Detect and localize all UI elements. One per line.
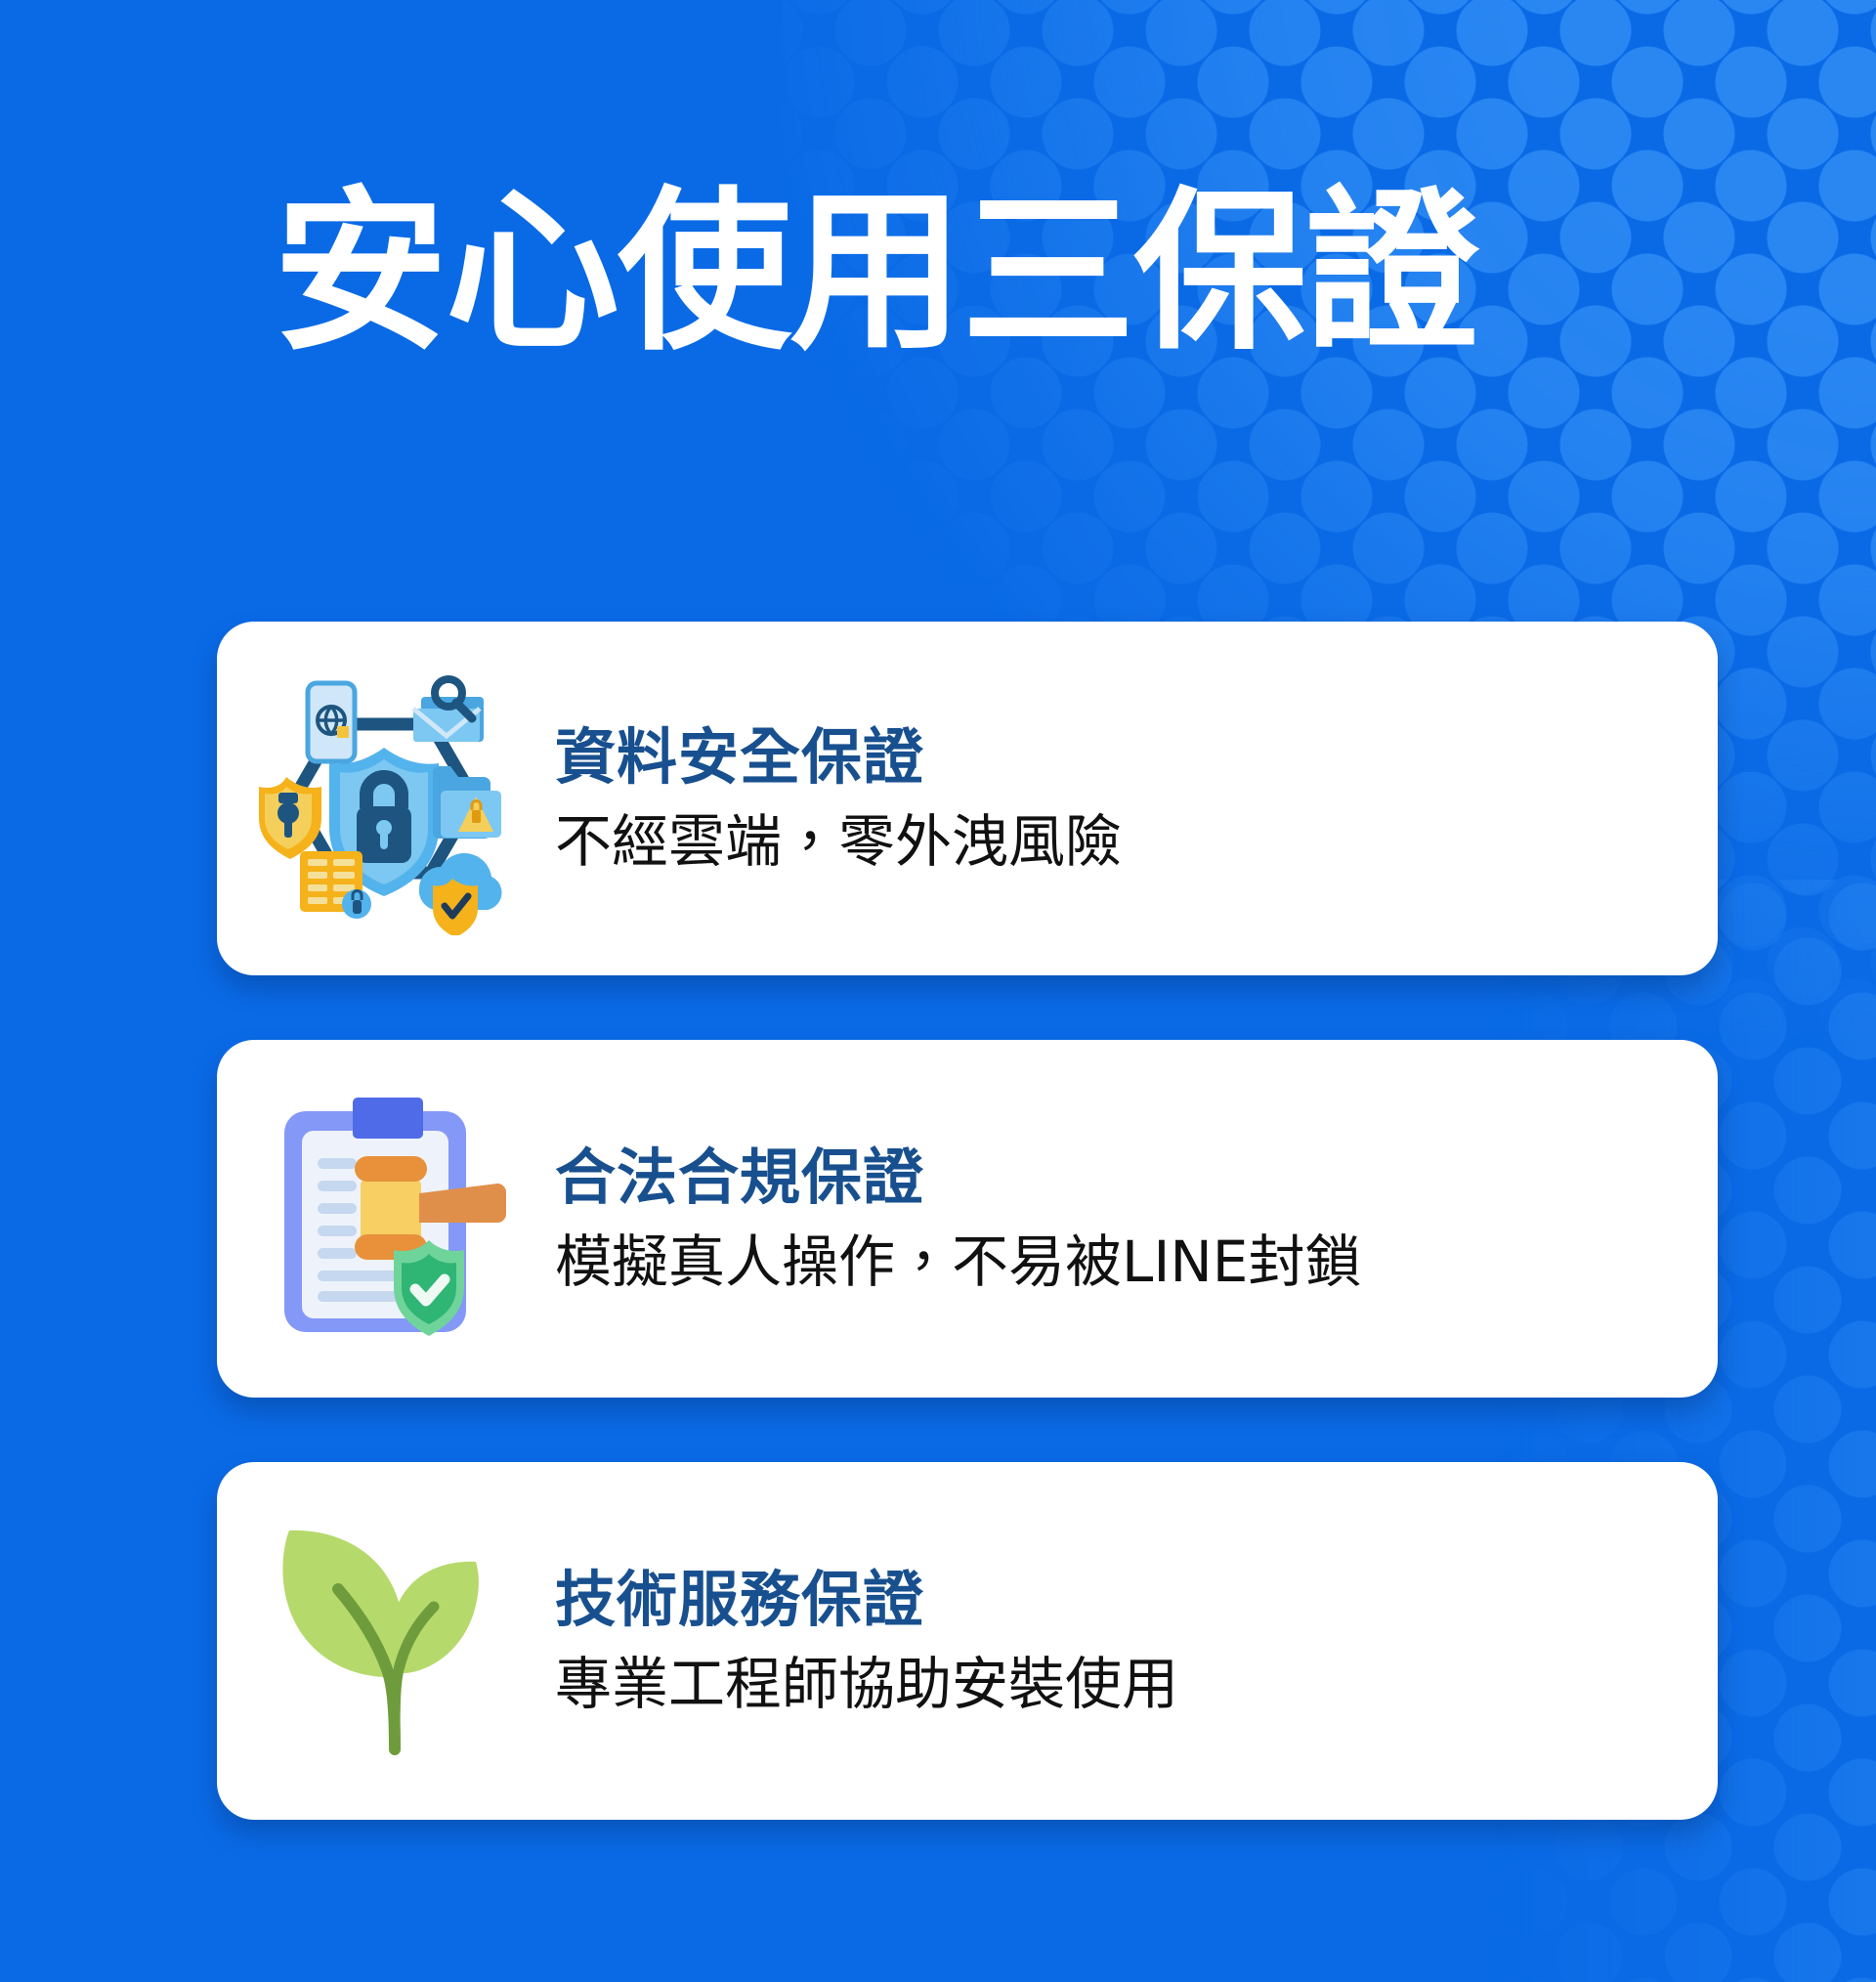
legal-compliance-clipboard-gavel-icon: [242, 1077, 526, 1360]
guarantee-card-legal-compliance[interactable]: 合法合規保證 模擬真人操作，不易被LINE封鎖: [217, 1040, 1718, 1398]
guarantee-card-list: 資料安全保證 不經雲端，零外洩風險: [217, 622, 1718, 1820]
card-text-block: 資料安全保證 不經雲端，零外洩風險: [555, 721, 1718, 877]
card-description: 不經雲端，零外洩風險: [555, 808, 1679, 877]
card-title: 合法合規保證: [555, 1142, 1679, 1213]
card-text-block: 技術服務保證 專業工程師協助安裝使用: [555, 1564, 1718, 1719]
card-title: 技術服務保證: [555, 1564, 1679, 1635]
page-title: 安心使用三保證: [274, 186, 1477, 360]
guarantee-card-technical-service[interactable]: 技術服務保證 專業工程師協助安裝使用: [217, 1462, 1718, 1820]
card-title: 資料安全保證: [555, 721, 1679, 793]
data-security-hexagon-icon: [242, 657, 526, 940]
card-text-block: 合法合規保證 模擬真人操作，不易被LINE封鎖: [555, 1142, 1718, 1297]
card-description: 專業工程師協助安裝使用: [555, 1651, 1679, 1719]
guarantee-card-data-security[interactable]: 資料安全保證 不經雲端，零外洩風險: [217, 622, 1718, 975]
card-description: 模擬真人操作，不易被LINE封鎖: [555, 1228, 1679, 1297]
sprout-leaf-icon: [242, 1499, 526, 1783]
